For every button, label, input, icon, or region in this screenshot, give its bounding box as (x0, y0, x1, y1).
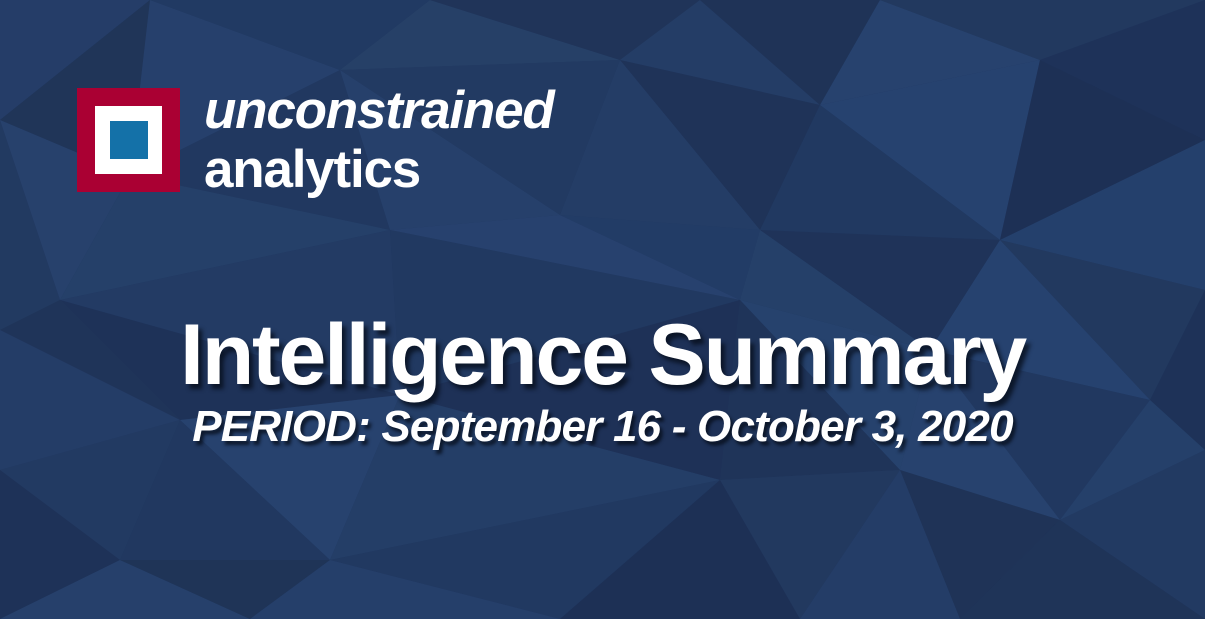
wordmark-line-analytics: analytics (204, 143, 554, 196)
wordmark: unconstrained analytics (204, 84, 554, 196)
logo-blue-square (110, 121, 148, 159)
headline-block: Intelligence Summary PERIOD: September 1… (0, 312, 1205, 450)
period-subtitle: PERIOD: September 16 - October 3, 2020 (0, 404, 1205, 450)
slide-canvas: unconstrained analytics Intelligence Sum… (0, 0, 1205, 619)
nested-square-logo-icon (77, 88, 180, 192)
page-title: Intelligence Summary (0, 312, 1205, 398)
brand-lockup: unconstrained analytics (77, 88, 554, 196)
wordmark-line-unconstrained: unconstrained (204, 84, 554, 139)
